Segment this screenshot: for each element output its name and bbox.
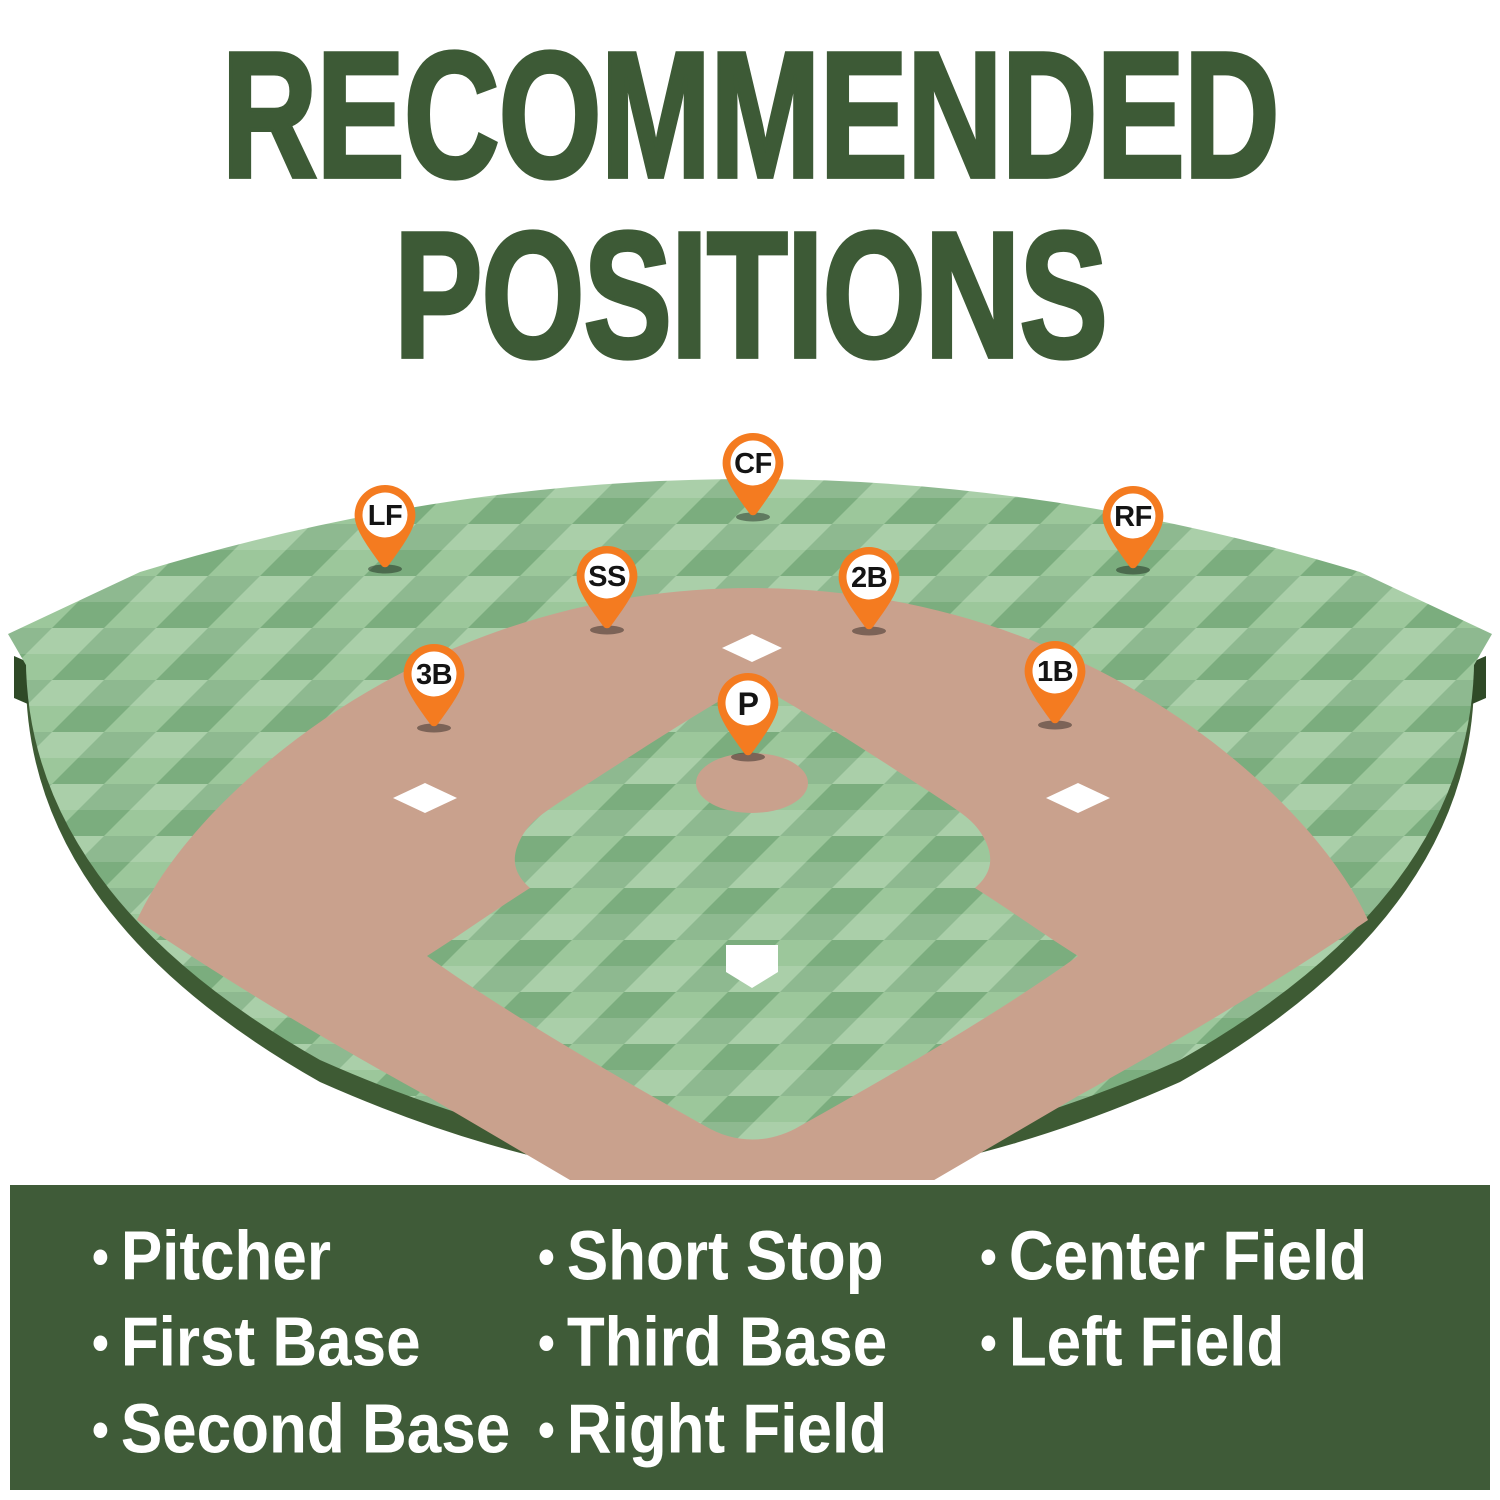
legend-item-label: Second Base xyxy=(121,1384,510,1476)
map-pin-icon: 3B xyxy=(403,644,465,706)
legend-item-label: Left Field xyxy=(1009,1297,1285,1389)
legend-column-1: •Pitcher•First Base•Second Base xyxy=(10,1211,510,1490)
page-title: RECOMMENDED POSITIONS xyxy=(0,0,1500,420)
map-pin-icon: P xyxy=(717,673,779,735)
legend-item: •First Base xyxy=(92,1297,510,1389)
map-pin-icon: RF xyxy=(1102,486,1164,548)
bullet-icon: • xyxy=(538,1404,555,1458)
legend-item: •Second Base xyxy=(92,1384,510,1476)
legend-item-label: Center Field xyxy=(1009,1211,1367,1303)
legend-item-label: Pitcher xyxy=(121,1211,331,1303)
legend-item: •Pitcher xyxy=(92,1211,510,1303)
legend-item: •Center Field xyxy=(980,1211,1490,1303)
bullet-icon: • xyxy=(980,1318,997,1372)
legend-item: •Third Base xyxy=(538,1297,970,1389)
bullet-icon: • xyxy=(980,1231,997,1285)
field-graphic xyxy=(0,420,1500,1180)
bullet-icon: • xyxy=(92,1231,109,1285)
map-pin-icon: LF xyxy=(354,485,416,547)
legend-item: •Right Field xyxy=(538,1384,970,1476)
bullet-icon: • xyxy=(538,1318,555,1372)
legend-column-3: •Center Field•Left Field xyxy=(970,1211,1490,1490)
map-pin-icon: 2B xyxy=(838,547,900,609)
positions-legend-panel: •Pitcher•First Base•Second Base •Short S… xyxy=(10,1185,1490,1490)
legend-column-2: •Short Stop•Third Base•Right Field xyxy=(510,1211,970,1490)
map-pin-icon: SS xyxy=(576,546,638,608)
bullet-icon: • xyxy=(92,1404,109,1458)
legend-item-label: Right Field xyxy=(567,1384,887,1476)
baseball-field: LFCFRFSS2B3B1BP xyxy=(0,420,1500,1180)
legend-item: •Short Stop xyxy=(538,1211,970,1303)
bullet-icon: • xyxy=(92,1318,109,1372)
bullet-icon: • xyxy=(538,1231,555,1285)
map-pin-icon: CF xyxy=(722,433,784,495)
legend-item-label: Third Base xyxy=(567,1297,887,1389)
pitchers-mound xyxy=(696,753,808,813)
legend-item-label: Short Stop xyxy=(567,1211,884,1303)
legend-item: •Left Field xyxy=(980,1297,1490,1389)
map-pin-icon: 1B xyxy=(1024,641,1086,703)
title-line-secondary: POSITIONS xyxy=(394,216,1107,374)
legend-item-label: First Base xyxy=(121,1297,421,1389)
title-line-primary: RECOMMENDED xyxy=(222,36,1279,194)
